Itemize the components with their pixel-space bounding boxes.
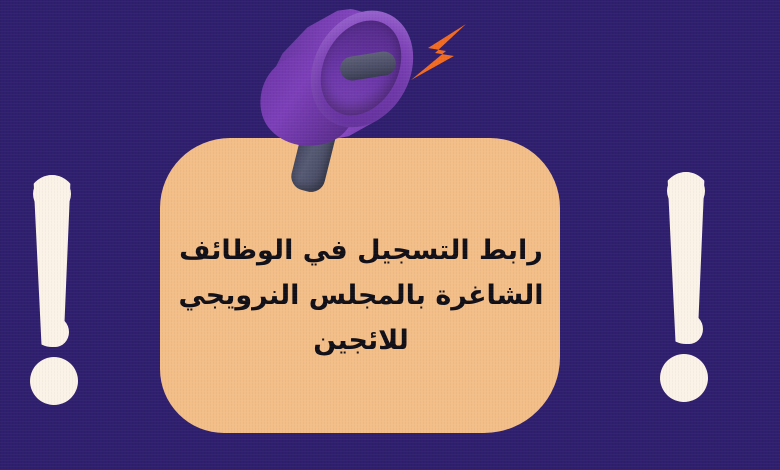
exclamation-dot	[660, 354, 708, 402]
exclamation-stem-cap-bottom	[675, 314, 703, 344]
exclamation-stem-cap-bottom	[41, 317, 69, 347]
headline-text: رابط التسجيل في الوظائف الشاغرة بالمجلس …	[168, 228, 554, 363]
lightning-bolt-icon	[406, 22, 470, 84]
poster-canvas: رابط التسجيل في الوظائف الشاغرة بالمجلس …	[0, 0, 780, 470]
exclamation-mark-icon-right	[660, 172, 722, 402]
exclamation-mark-icon-left	[26, 175, 88, 405]
exclamation-stem-cap-top	[33, 175, 71, 213]
exclamation-stem-cap-top	[667, 172, 705, 210]
exclamation-dot	[30, 357, 78, 405]
